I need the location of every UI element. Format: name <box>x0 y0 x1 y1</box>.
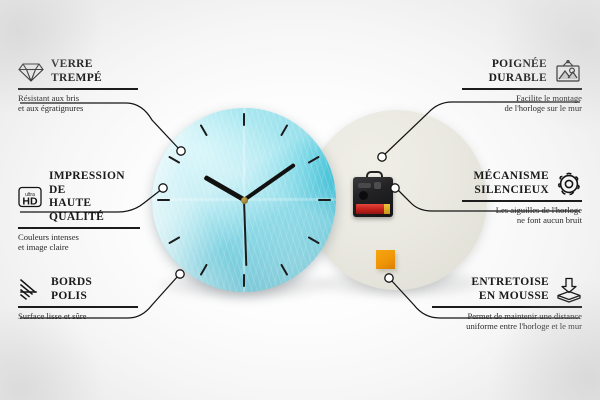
foam-spacer-sample <box>376 250 395 269</box>
ultra-hd-icon-main-label: HD <box>22 196 38 208</box>
diamond-icon <box>18 61 44 83</box>
battery <box>356 204 390 214</box>
mechanism-shaft <box>359 191 368 200</box>
foam-spacer-icon <box>556 277 582 303</box>
feature-poignee-durable: POIGNÉE DURABLE Facilite le montage de l… <box>462 58 582 114</box>
feature-verre-trempe: VERRE TREMPÉ Résistant aux bris et aux é… <box>18 58 138 114</box>
feature-title: POIGNÉE DURABLE <box>489 58 547 85</box>
feature-header: BORDS POLIS <box>18 276 138 303</box>
feature-divider <box>462 88 582 90</box>
feature-title: VERRE TREMPÉ <box>51 58 102 85</box>
feature-header: ENTRETOISE EN MOUSSE <box>432 276 582 303</box>
ultra-hd-icon: ultra HD <box>18 185 42 209</box>
polished-edges-icon <box>18 278 44 302</box>
gear-icon <box>556 171 582 197</box>
feature-description: Couleurs intenses et image claire <box>18 232 140 253</box>
clock-tick <box>157 199 170 201</box>
feature-divider <box>18 88 138 90</box>
infographic-canvas: VERRE TREMPÉ Résistant aux bris et aux é… <box>0 0 600 400</box>
feature-description: Facilite le montage de l'horloge sur le … <box>462 93 582 114</box>
battery-terminal <box>384 204 390 214</box>
feature-description: Surface lisse et sûre <box>18 311 138 322</box>
feature-bords-polis: BORDS POLIS Surface lisse et sûre <box>18 276 138 321</box>
clock-front-face <box>152 108 336 292</box>
clock-tick <box>243 274 245 287</box>
feature-divider <box>18 306 138 308</box>
feature-divider <box>432 306 582 308</box>
feature-mecanisme-silencieux: MÉCANISME SILENCIEUX Les aiguilles de l'… <box>462 170 582 226</box>
feature-description: Les aiguilles de l'horloge ne font aucun… <box>462 205 582 226</box>
feature-impression-haute-qualite: ultra HD IMPRESSION DE HAUTE QUALITÉ Cou… <box>18 170 140 253</box>
quartz-mechanism <box>353 177 393 217</box>
clock-tick <box>243 113 245 126</box>
mechanism-detail <box>358 183 371 188</box>
clock-tick <box>318 199 331 201</box>
feature-header: VERRE TREMPÉ <box>18 58 138 85</box>
feature-title: IMPRESSION DE HAUTE QUALITÉ <box>49 170 140 224</box>
feature-description: Permet de maintenir une distance uniform… <box>432 311 582 332</box>
feature-header: ultra HD IMPRESSION DE HAUTE QUALITÉ <box>18 170 140 224</box>
feature-entretoise-en-mousse: ENTRETOISE EN MOUSSE Permet de maintenir… <box>432 276 582 332</box>
clock-center-cap <box>241 197 248 204</box>
feature-description: Résistant aux bris et aux égratignures <box>18 93 138 114</box>
feature-header: POIGNÉE DURABLE <box>462 58 582 85</box>
feature-divider <box>18 227 140 229</box>
framed-picture-icon <box>554 60 582 84</box>
feature-title: MÉCANISME SILENCIEUX <box>473 170 549 197</box>
feature-header: MÉCANISME SILENCIEUX <box>462 170 582 197</box>
feature-divider <box>462 200 582 202</box>
mechanism-body <box>353 177 393 217</box>
mechanism-detail <box>374 182 381 189</box>
feature-title: BORDS POLIS <box>51 276 92 303</box>
feature-title: ENTRETOISE EN MOUSSE <box>471 276 549 303</box>
